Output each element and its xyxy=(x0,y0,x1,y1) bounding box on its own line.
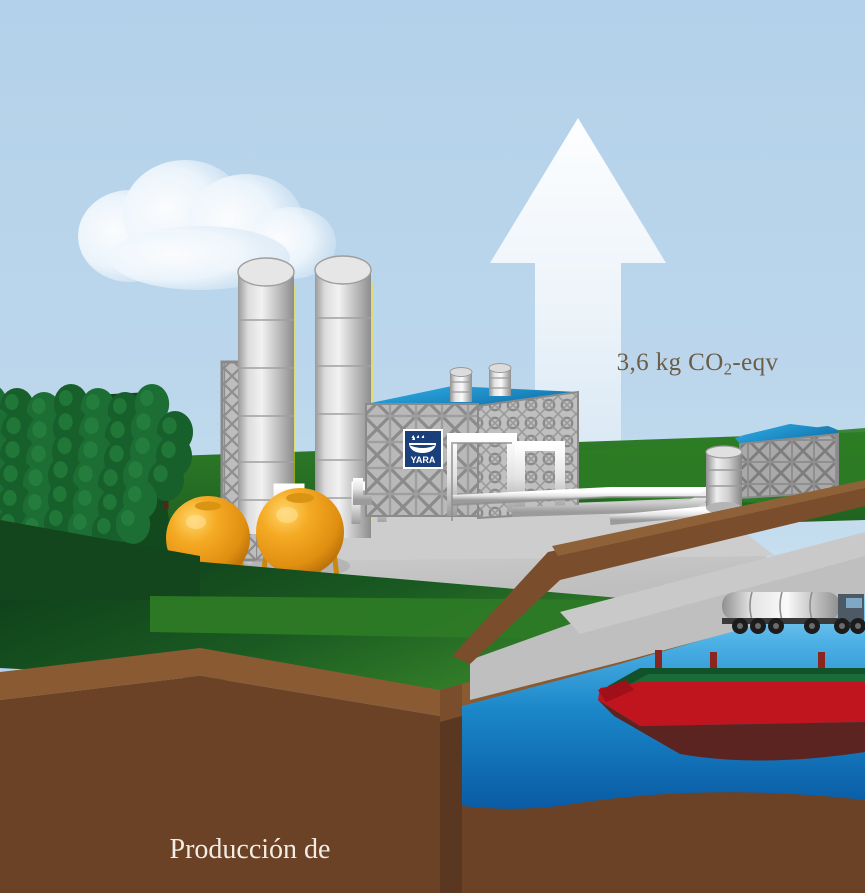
tree-highlight xyxy=(113,398,127,414)
tree-highlight xyxy=(128,461,142,478)
tree-highlight xyxy=(135,437,149,454)
tree-highlight xyxy=(32,421,46,438)
tree-highlight xyxy=(161,441,175,458)
tree-highlight xyxy=(6,417,20,434)
tree-highlight xyxy=(121,510,135,526)
tree-highlight xyxy=(3,490,17,506)
cylindrical-tank xyxy=(706,446,742,514)
tree-highlight xyxy=(58,413,72,430)
yara-viking-ship-logo: YARA xyxy=(404,430,442,468)
tree-highlight xyxy=(136,413,150,430)
tree-highlight xyxy=(84,417,98,434)
tree-highlight xyxy=(97,518,111,534)
soil-edge-line xyxy=(440,684,462,722)
tree-crown xyxy=(116,504,150,544)
tree-highlight xyxy=(5,394,19,410)
tree-highlight xyxy=(53,486,67,502)
tree-highlight xyxy=(59,390,73,406)
tree-highlight xyxy=(103,469,117,486)
tree-highlight xyxy=(32,398,46,414)
tree-highlight xyxy=(57,437,71,454)
tree-highlight xyxy=(28,494,42,510)
tree-highlight xyxy=(128,486,142,502)
ship-hull-red xyxy=(598,682,865,726)
tree-highlight xyxy=(28,469,42,486)
tree-highlight xyxy=(31,445,45,462)
tree-highlight xyxy=(103,494,117,510)
yara-wordmark: YARA xyxy=(411,455,436,465)
fertilizer-production-illustration: YARA xyxy=(0,0,865,893)
soil-corner-edge xyxy=(440,708,462,893)
roof-vent-2 xyxy=(489,364,511,397)
tree-highlight xyxy=(162,417,176,434)
tree-highlight xyxy=(3,465,17,482)
tree-highlight xyxy=(153,465,167,482)
tree-highlight xyxy=(5,441,19,458)
tree-highlight xyxy=(140,390,154,406)
tree-highlight xyxy=(49,510,63,526)
tree-highlight xyxy=(109,445,123,462)
tree-highlight xyxy=(86,394,100,410)
tree-highlight xyxy=(78,465,92,482)
tree-highlight xyxy=(73,514,87,530)
tree-highlight xyxy=(78,490,92,506)
tree-highlight xyxy=(53,461,67,478)
tree-highlight xyxy=(110,421,124,438)
soil-cross-section xyxy=(0,676,440,893)
tree-highlight xyxy=(83,441,97,458)
scene-svg: YARA xyxy=(0,0,865,893)
roof-vent-1 xyxy=(450,368,472,403)
